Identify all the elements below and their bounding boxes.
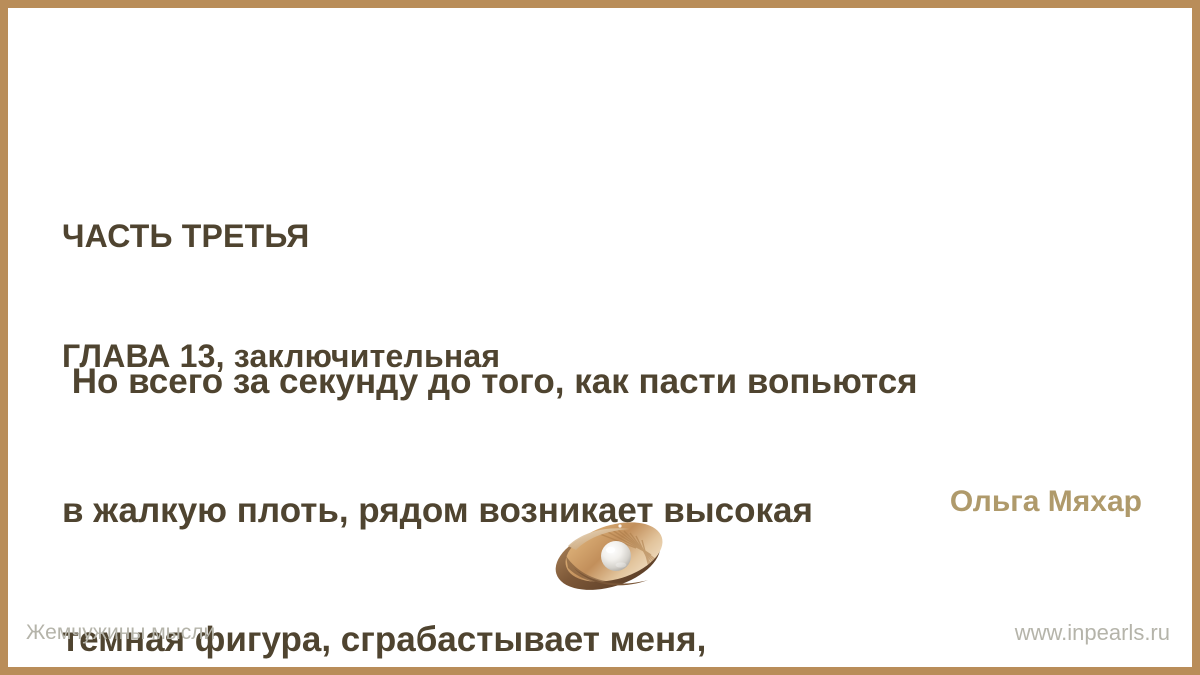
site-url[interactable]: www.inpearls.ru [1015,621,1170,645]
quote-card: ЧАСТЬ ТРЕТЬЯ ГЛАВА 13, заключительная Но… [0,0,1200,675]
quote-line: темная фигура, сграбастывает меня, [62,618,1172,661]
site-tagline: Жемчужины мысли [26,621,215,645]
quote-text: Но всего за секунду до того, как пасти в… [62,274,1172,675]
quote-line: Но всего за секунду до того, как пасти в… [62,360,1172,403]
author-name: Ольга Мяхар [950,484,1142,520]
shell-with-pearl-icon [548,516,678,592]
chapter-part-label: ЧАСТЬ ТРЕТЬЯ [62,216,500,256]
